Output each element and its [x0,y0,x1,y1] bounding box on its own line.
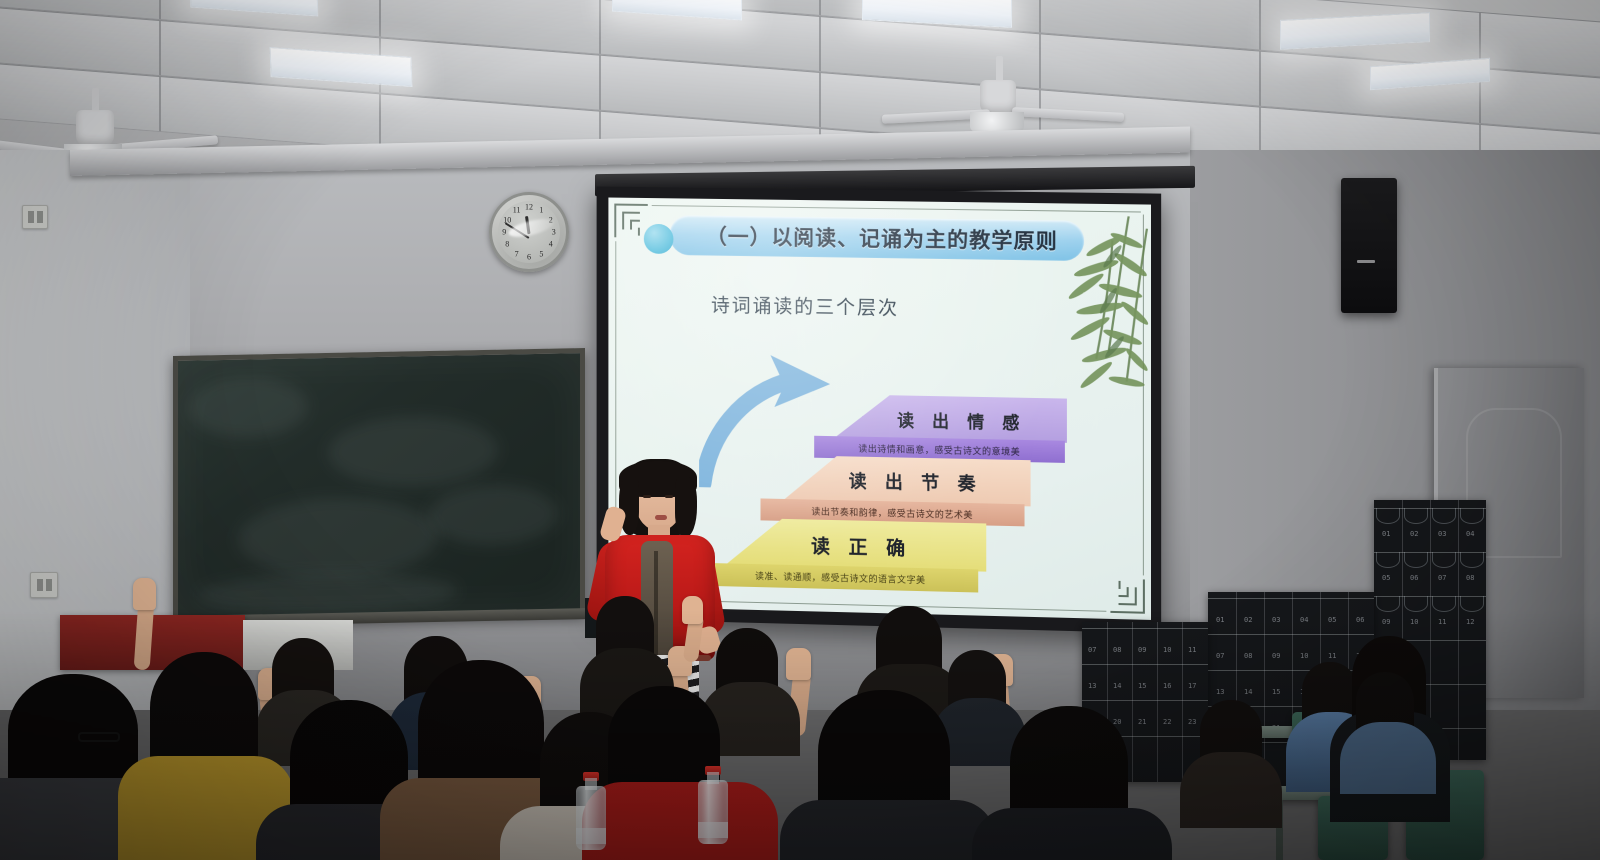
pocket-number: 11 [1188,646,1196,654]
clock-numeral: 1 [539,206,543,215]
clock-numeral: 7 [515,249,519,258]
pocket-number: 17 [1188,682,1196,690]
pocket-number: 16 [1163,682,1171,690]
pocket-number: 12 [1466,618,1474,626]
pocket-number: 13 [1216,688,1224,696]
wall-speaker [1341,178,1397,313]
step-label: 读 出 节 奏 [802,459,1028,504]
pocket-number: 07 [1088,646,1096,654]
pocket-number: 09 [1272,652,1280,660]
pocket-number: 02 [1244,616,1252,624]
glasses-icon [78,732,120,742]
pocket-number: 03 [1272,616,1280,624]
classroom-photo: 12 1 2 3 4 5 6 7 8 9 10 11 [0,0,1600,860]
pocket-number: 10 [1163,646,1171,654]
pocket-number: 11 [1438,618,1446,626]
pocket-number: 08 [1244,652,1252,660]
clock-numeral: 5 [539,249,543,258]
pocket-number: 04 [1300,616,1308,624]
pocket-number: 01 [1382,530,1390,538]
blackboard [173,348,585,624]
clock-numeral: 4 [549,239,553,248]
pocket-number: 10 [1300,652,1308,660]
pocket-number: 03 [1438,530,1446,538]
clock-numeral: 8 [505,239,509,248]
pocket-number: 15 [1138,682,1146,690]
raised-hand [682,596,703,624]
pocket-number: 06 [1356,616,1364,624]
pocket-number: 07 [1438,574,1446,582]
pocket-number: 02 [1410,530,1418,538]
clock-numeral: 3 [552,228,556,237]
pocket-number: 08 [1466,574,1474,582]
clock-numeral: 12 [525,203,533,212]
pocket-number: 01 [1216,616,1224,624]
pocket-number: 06 [1410,574,1418,582]
raised-hand [786,648,811,680]
pocket-number: 21 [1138,718,1146,726]
power-socket [30,572,58,598]
pocket-number: 14 [1244,688,1252,696]
pocket-number: 05 [1328,616,1336,624]
clock-numeral: 6 [527,252,531,261]
bottle-label [576,828,606,844]
power-socket [22,205,48,229]
step-label: 读 出 情 感 [856,399,1067,441]
pocket-number: 09 [1382,618,1390,626]
pocket-number: 11 [1328,652,1336,660]
clock-numeral: 11 [513,206,521,215]
pocket-number: 08 [1113,646,1121,654]
pocket-number: 15 [1272,688,1280,696]
pocket-number: 09 [1138,646,1146,654]
water-bottle [698,766,728,844]
pocket-number: 14 [1113,682,1121,690]
pocket-number: 05 [1382,574,1390,582]
pocket-number: 04 [1466,530,1474,538]
water-bottle [576,772,606,850]
pocket-number: 22 [1163,718,1171,726]
raised-hand [133,578,156,610]
bottle-label [698,822,728,838]
pocket-number: 23 [1188,718,1196,726]
clock-numeral: 9 [502,228,506,237]
pocket-number: 10 [1410,618,1418,626]
pocket-number: 13 [1088,682,1096,690]
wall-clock: 12 1 2 3 4 5 6 7 8 9 10 11 [489,192,569,272]
speaker-badge [1357,260,1375,263]
step-label: 读 正 确 [747,522,977,569]
pocket-number: 07 [1216,652,1224,660]
